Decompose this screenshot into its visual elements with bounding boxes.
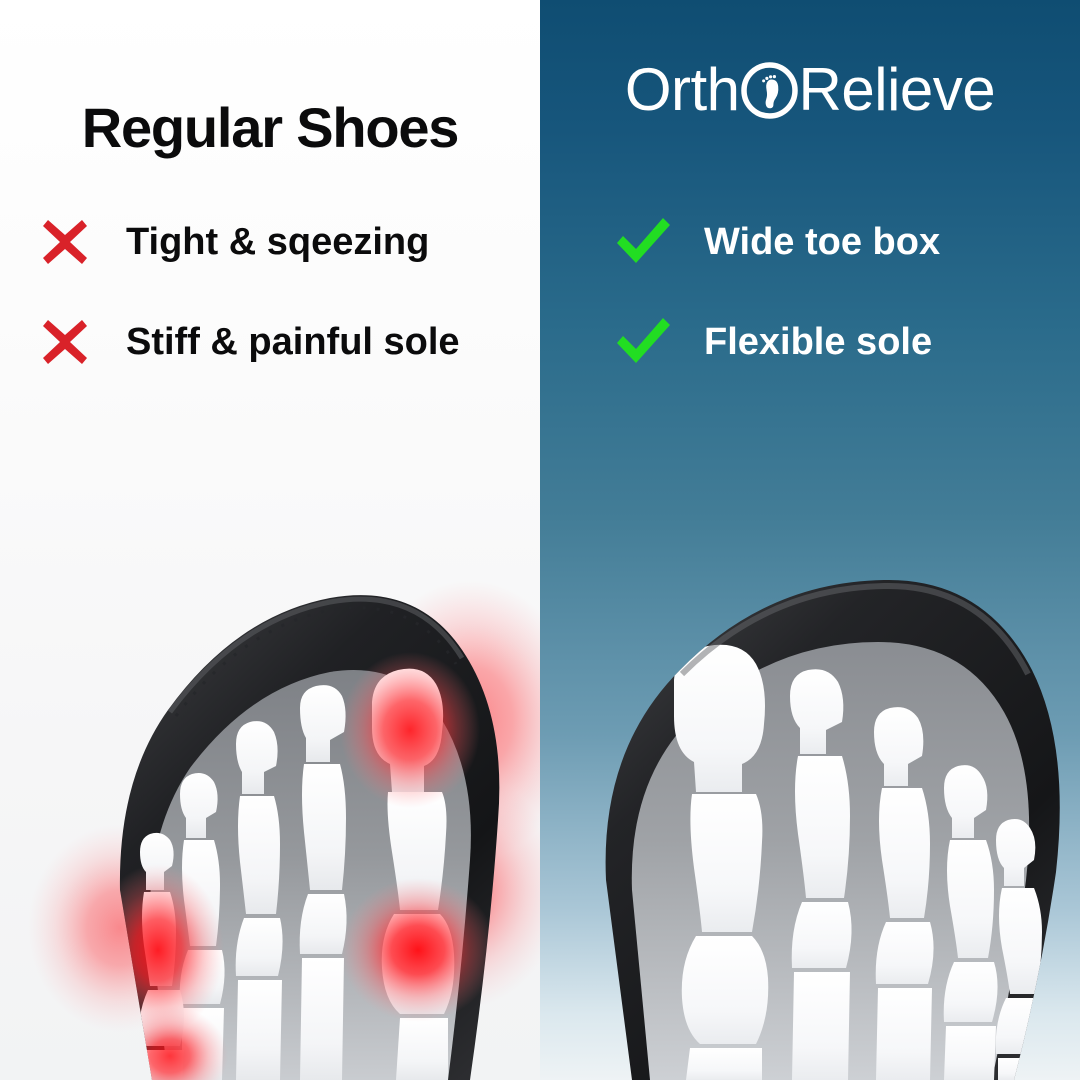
- list-item: Stiff & painful sole: [34, 292, 540, 392]
- left-panel-regular-shoes: Regular Shoes Tight & sqeezing Stiff & p…: [0, 0, 540, 1080]
- comparison-ad: Regular Shoes Tight & sqeezing Stiff & p…: [0, 0, 1080, 1080]
- left-panel-bullet-list: Tight & sqeezing Stiff & painful sole: [0, 192, 540, 392]
- list-item-label: Flexible sole: [704, 323, 932, 361]
- cross-mark-icon: [34, 311, 96, 373]
- logo-text-after: Relieve: [799, 60, 996, 120]
- footprint-in-circle-icon: [741, 62, 798, 119]
- list-item: Wide toe box: [612, 192, 1080, 292]
- list-item-label: Tight & sqeezing: [126, 223, 429, 261]
- left-xray-image: [0, 420, 540, 1080]
- right-xray-image: [540, 420, 1080, 1080]
- list-item: Flexible sole: [612, 292, 1080, 392]
- check-mark-icon: [612, 211, 674, 273]
- check-mark-icon: [612, 311, 674, 373]
- list-item-label: Stiff & painful sole: [126, 323, 460, 361]
- list-item: Tight & sqeezing: [34, 192, 540, 292]
- orthorelieve-logo: Orth Relieve: [540, 60, 1080, 120]
- cross-mark-icon: [34, 211, 96, 273]
- list-item-label: Wide toe box: [704, 223, 940, 261]
- left-panel-heading: Regular Shoes: [0, 100, 540, 156]
- logo-text-before: Orth: [625, 60, 740, 120]
- right-panel-bullet-list: Wide toe box Flexible sole: [540, 192, 1080, 392]
- right-panel-orthorelieve: Orth Relieve Wid: [540, 0, 1080, 1080]
